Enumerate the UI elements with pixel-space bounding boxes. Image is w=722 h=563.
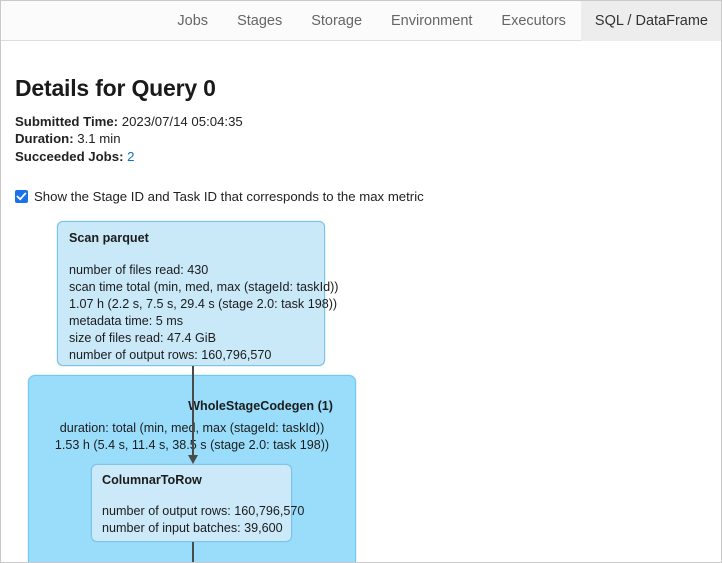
- succeeded-jobs-link[interactable]: 2: [127, 149, 134, 164]
- show-stage-task-id-checkbox[interactable]: [15, 190, 28, 203]
- metric-line: size of files read: 47.4 GiB: [69, 330, 313, 347]
- metric-line: scan time total (min, med, max (stageId:…: [69, 279, 313, 296]
- tab-storage[interactable]: Storage: [297, 1, 377, 41]
- duration-row: Duration: 3.1 min: [15, 130, 243, 147]
- show-stage-task-id-row: Show the Stage ID and Task ID that corre…: [15, 189, 424, 204]
- tab-environment[interactable]: Environment: [377, 1, 487, 41]
- tab-stages[interactable]: Stages: [223, 1, 297, 41]
- check-icon: [16, 191, 27, 202]
- plan-node-scan-parquet[interactable]: Scan parquet number of files read: 430 s…: [57, 221, 325, 366]
- submitted-time-value: 2023/07/14 05:04:35: [122, 114, 243, 129]
- plan-node-title: ColumnarToRow: [102, 473, 281, 487]
- show-stage-task-id-label: Show the Stage ID and Task ID that corre…: [34, 189, 424, 204]
- plan-node-columnar-to-row[interactable]: ColumnarToRow number of output rows: 160…: [91, 464, 292, 542]
- page-title: Details for Query 0: [15, 75, 216, 102]
- metric-line: number of input batches: 39,600: [102, 520, 281, 537]
- submitted-time-label: Submitted Time:: [15, 114, 118, 129]
- plan-node-metrics: number of files read: 430 scan time tota…: [69, 262, 313, 364]
- edge-arrowhead-icon: [188, 455, 198, 464]
- plan-node-metrics: number of output rows: 160,796,570 numbe…: [102, 503, 281, 537]
- tab-executors[interactable]: Executors: [487, 1, 580, 41]
- query-summary: Submitted Time: 2023/07/14 05:04:35 Dura…: [15, 113, 243, 165]
- tab-jobs[interactable]: Jobs: [163, 1, 223, 41]
- tab-sql-dataframe[interactable]: SQL / DataFrame: [581, 1, 722, 41]
- edge-shaft: [192, 542, 194, 563]
- nav-spacer: [1, 1, 163, 40]
- succeeded-jobs-row: Succeeded Jobs: 2: [15, 148, 243, 165]
- metric-line: 1.07 h (2.2 s, 7.5 s, 29.4 s (stage 2.0:…: [69, 296, 313, 313]
- duration-label: Duration:: [15, 131, 74, 146]
- main-nav-tabs: Jobs Stages Storage Environment Executor…: [1, 1, 722, 41]
- metric-line: number of files read: 430: [69, 262, 313, 279]
- edge-shaft: [192, 366, 194, 455]
- metric-line: number of output rows: 160,796,570: [69, 347, 313, 364]
- metric-line: metadata time: 5 ms: [69, 313, 313, 330]
- spark-ui-page: Jobs Stages Storage Environment Executor…: [0, 0, 722, 563]
- succeeded-jobs-label: Succeeded Jobs:: [15, 149, 123, 164]
- plan-node-title: WholeStageCodegen (1): [188, 399, 333, 413]
- metric-line: number of output rows: 160,796,570: [102, 503, 281, 520]
- plan-node-title: Scan parquet: [69, 231, 313, 245]
- submitted-time-row: Submitted Time: 2023/07/14 05:04:35: [15, 113, 243, 130]
- query-plan-graph: WholeStageCodegen (1) duration: total (m…: [1, 206, 722, 563]
- duration-value: 3.1 min: [77, 131, 120, 146]
